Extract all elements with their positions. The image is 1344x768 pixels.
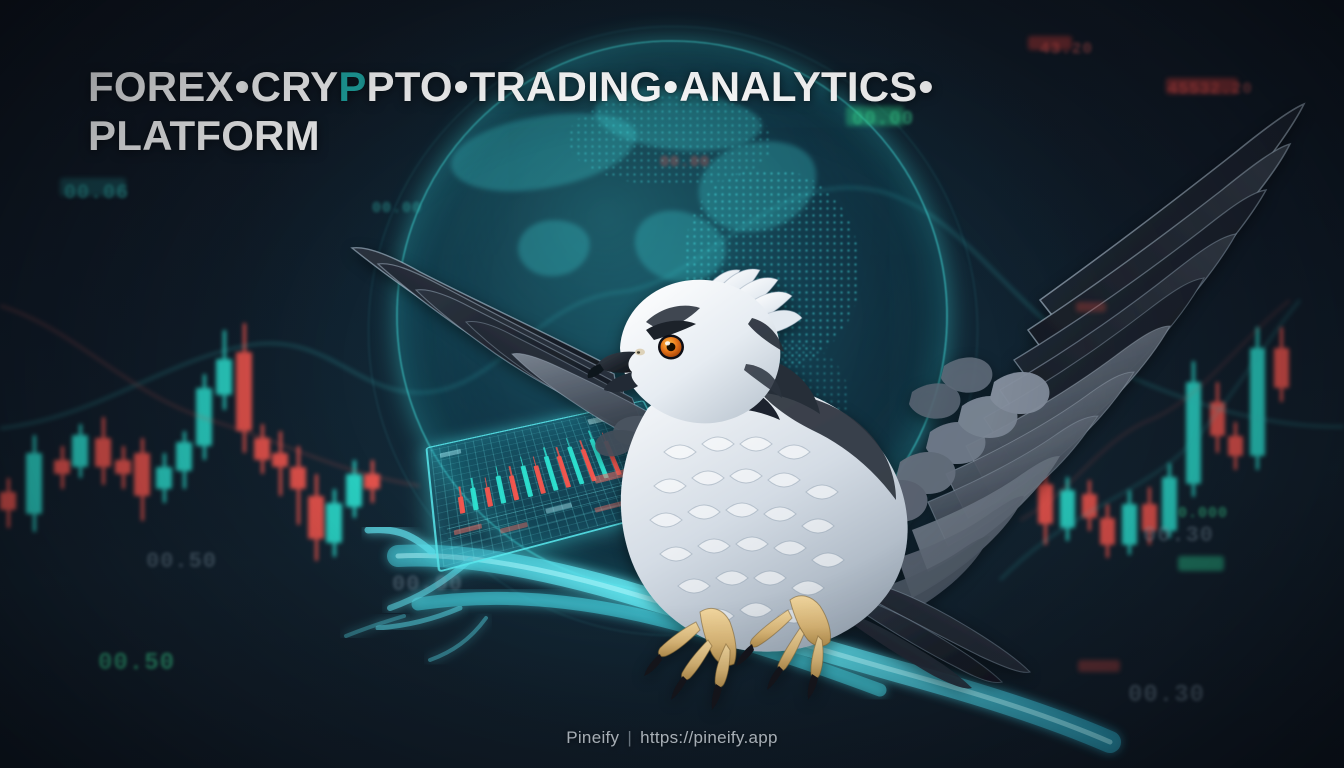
- title-crypto-a: CRY: [251, 63, 339, 110]
- hero-banner: 00.0600.0000.5000.5000.0000.3000.300.000…: [0, 0, 1344, 768]
- price-chip-red-c: [1078, 660, 1120, 672]
- footer-brand: Pineify: [566, 728, 619, 747]
- background-price-label: 00.50: [146, 549, 217, 574]
- title-separator-2: •: [453, 63, 470, 110]
- title-crypto-accent: P: [338, 63, 366, 110]
- title-separator-3: •: [662, 63, 679, 110]
- title-platform: PLATFORM: [88, 112, 320, 159]
- title-forex: FOREX: [88, 63, 234, 110]
- price-chip-red-a: [1028, 36, 1072, 50]
- background-price-label: 00.50: [98, 650, 175, 677]
- background-price-label: 00.00: [372, 200, 422, 217]
- title-separator-4: •: [918, 63, 935, 110]
- title-separator-1: •: [234, 63, 251, 110]
- right-wing: [868, 104, 1304, 620]
- title-analytics: ANALYTICS: [679, 63, 917, 110]
- body: [621, 381, 908, 652]
- title-trading: TRADING: [470, 63, 663, 110]
- price-chip-teal-a: [60, 178, 126, 196]
- title-crypto-b: PTO: [367, 63, 453, 110]
- background-price-label: 0.000: [1178, 505, 1228, 522]
- background-price-label: 00.00: [392, 572, 463, 597]
- background-price-label: 00.30: [1143, 523, 1214, 548]
- footer-attribution: Pineify|https://pineify.app: [0, 728, 1344, 748]
- price-chip-green-b: [1178, 556, 1224, 571]
- page-title: FOREX•CRYPPTO•TRADING•ANALYTICS•PLATFORM: [88, 62, 1098, 160]
- price-chip-red-b: [1166, 78, 1238, 94]
- footer-url[interactable]: https://pineify.app: [640, 728, 778, 747]
- background-price-label: 00.30: [1128, 682, 1205, 709]
- footer-divider: |: [619, 728, 640, 747]
- price-chip-red-d: [1076, 302, 1106, 312]
